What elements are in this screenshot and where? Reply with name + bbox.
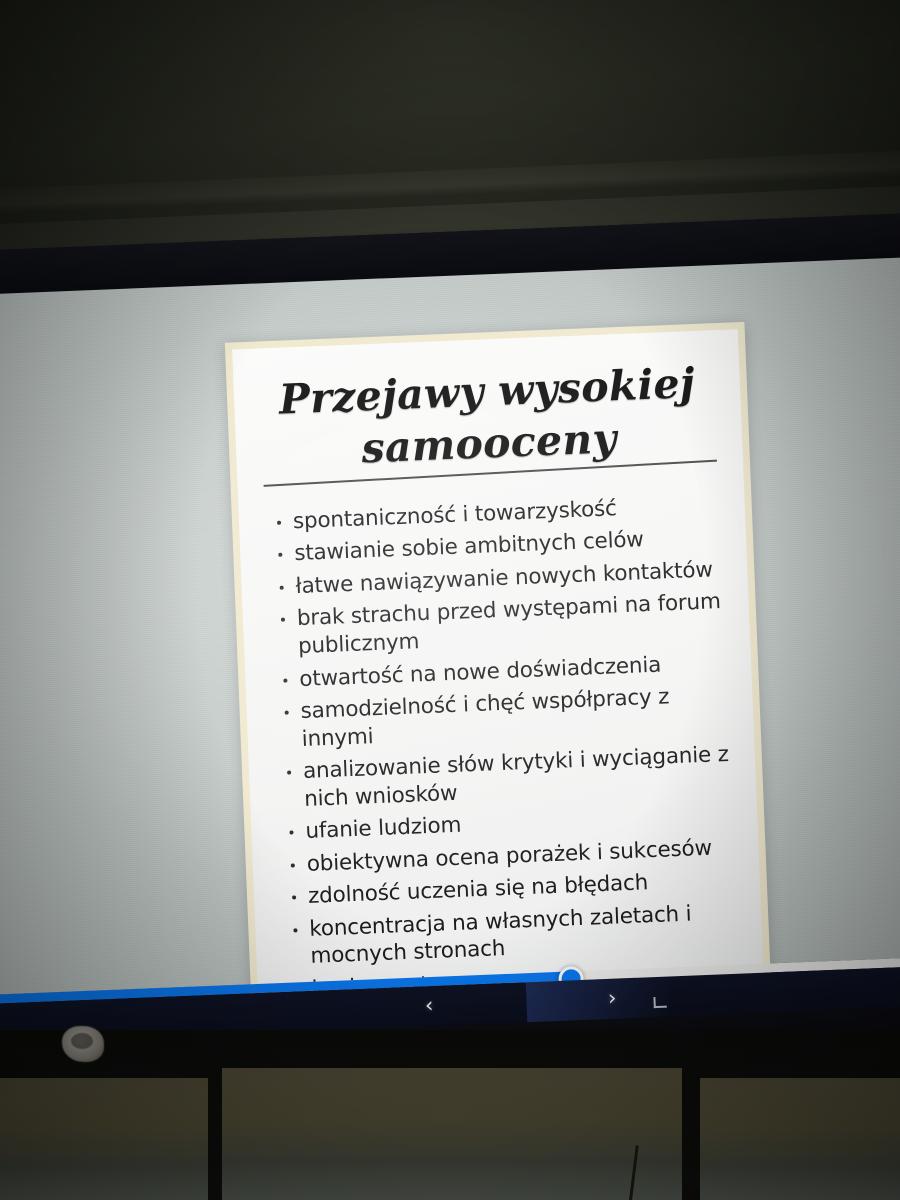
photograph: Przejawy wysokiej samooceny spontaniczno…: [0, 0, 900, 1200]
cabinet-panel: [222, 1068, 682, 1200]
corner-bracket-icon[interactable]: [654, 997, 667, 1009]
slide-surface: Przejawy wysokiej samooceny spontaniczno…: [232, 329, 764, 1015]
decal-sticker: [62, 1026, 104, 1062]
slide-bullet-list: spontaniczność i towarzyskość stawianie …: [259, 491, 744, 1005]
display-screen[interactable]: Przejawy wysokiej samooceny spontaniczno…: [0, 255, 900, 996]
interactive-display: Przejawy wysokiej samooceny spontaniczno…: [0, 211, 900, 1072]
slide-title: Przejawy wysokiej samooceny: [253, 356, 723, 480]
slide-card: Przejawy wysokiej samooceny spontaniczno…: [225, 322, 772, 1022]
cabinet-furniture: [0, 1030, 900, 1200]
chevron-right-icon[interactable]: ›: [607, 986, 616, 1010]
cabinet-panel: [700, 1078, 900, 1200]
chevron-left-icon[interactable]: ‹: [425, 993, 434, 1017]
cabinet-panel: [0, 1078, 208, 1200]
